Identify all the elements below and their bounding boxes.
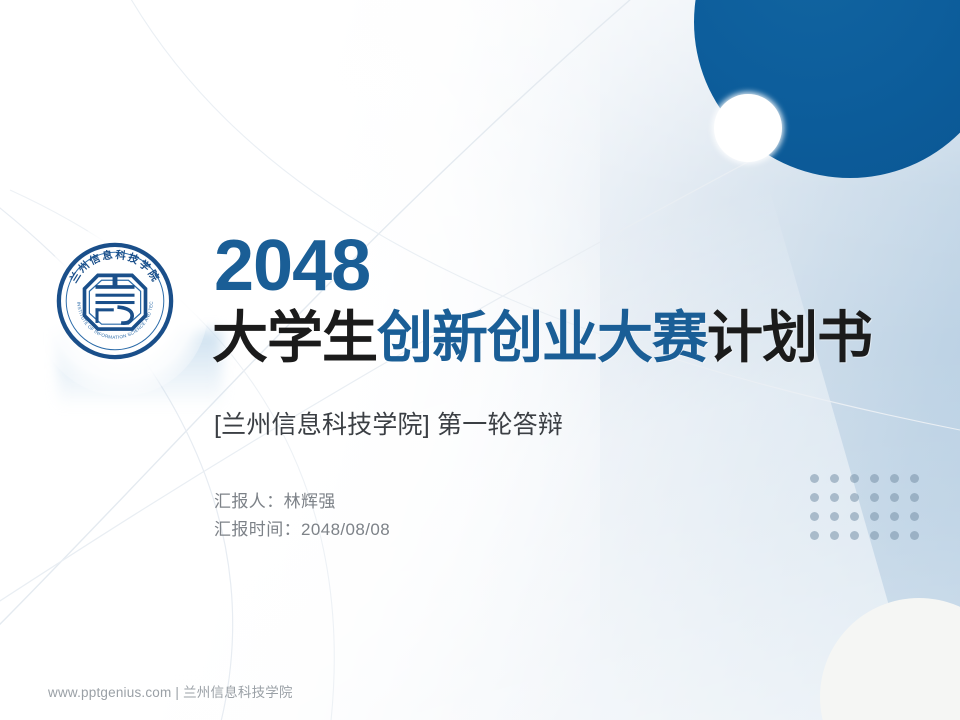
decorative-dot-grid (810, 474, 930, 550)
presenter-line: 汇报人：林辉强 (214, 488, 390, 516)
page-title-year: 2048 (214, 230, 370, 302)
date-line: 汇报时间：2048/08/08 (214, 516, 390, 544)
presentation-slide: 兰州信息科技学院 LANZHOU INSTITUTE OF INFORMATIO… (0, 0, 960, 720)
page-subtitle: [兰州信息科技学院] 第一轮答辩 (214, 405, 563, 441)
page-title-part-2: 创新创业大赛 (377, 306, 707, 369)
page-title-part-3: 计划书 (707, 306, 872, 369)
university-logo-icon: 兰州信息科技学院 LANZHOU INSTITUTE OF INFORMATIO… (54, 240, 176, 362)
page-title-part-1: 大学生 (212, 306, 377, 369)
page-title: 大学生创新创业大赛计划书 (212, 308, 872, 368)
presentation-meta: 汇报人：林辉强 汇报时间：2048/08/08 (214, 488, 390, 544)
decorative-white-circle (714, 94, 782, 162)
footer-text: www.pptgenius.com | 兰州信息科技学院 (48, 681, 293, 701)
